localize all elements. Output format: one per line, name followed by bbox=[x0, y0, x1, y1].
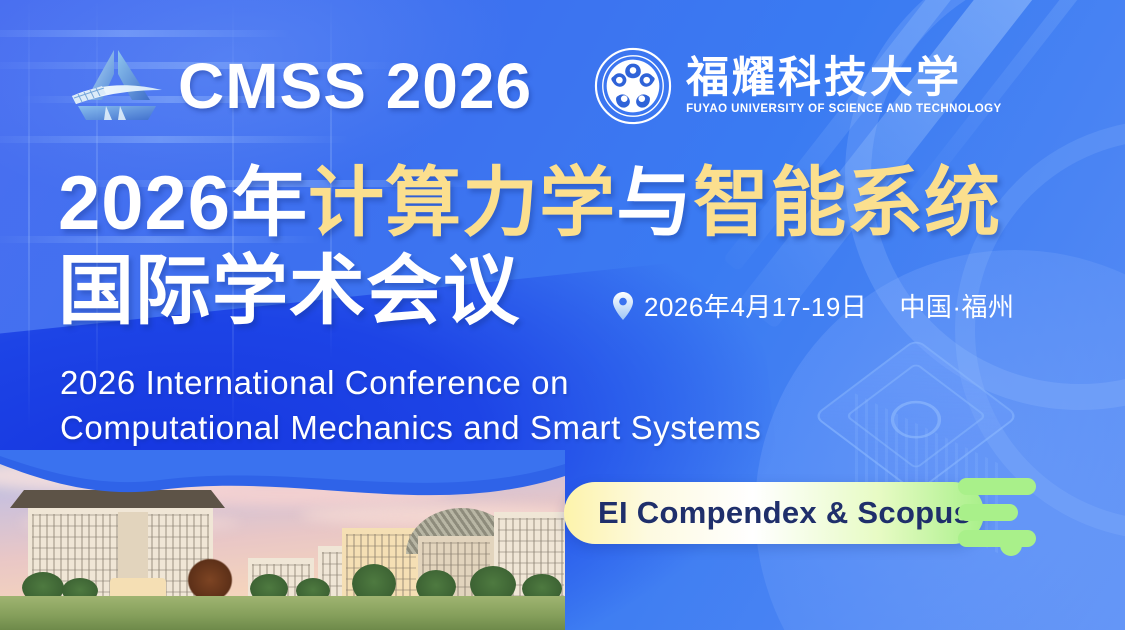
indexing-badge[interactable]: EI Compendex & Scopus bbox=[564, 482, 984, 544]
title-seg-smart-systems: 智能系统 bbox=[693, 161, 1001, 246]
university-names: 福耀科技大学 FUYAO UNIVERSITY OF SCIENCE AND T… bbox=[686, 57, 1002, 115]
university-name-en: FUYAO UNIVERSITY OF SCIENCE AND TECHNOLO… bbox=[686, 103, 1002, 115]
date-location-row: 2026年4月17-19日 中国·福州 bbox=[612, 287, 1014, 324]
bg-hline-4 bbox=[0, 136, 350, 143]
location-pin-icon bbox=[612, 292, 634, 320]
title-seg-comp-mech: 计算力学 bbox=[308, 161, 616, 246]
campus-lawn bbox=[0, 596, 565, 630]
bg-hline-1 bbox=[0, 30, 290, 37]
conference-location: 中国·福州 bbox=[899, 287, 1014, 324]
university-name-cn: 福耀科技大学 bbox=[686, 57, 1002, 100]
fuyao-university-seal-icon bbox=[594, 47, 672, 125]
green-bar-top bbox=[958, 478, 1036, 495]
university-logo-block: 福耀科技大学 FUYAO UNIVERSITY OF SCIENCE AND T… bbox=[594, 47, 1002, 125]
cmss-acronym-title: CMSS 2026 bbox=[178, 54, 532, 118]
main-hall-roof bbox=[10, 490, 225, 508]
title-seg-intl-conf: 国际学术会议 bbox=[58, 249, 520, 334]
conference-date: 2026年4月17-19日 bbox=[644, 287, 867, 324]
title-seg-and: 与 bbox=[616, 161, 693, 246]
green-bars-dot-decoration-icon bbox=[958, 478, 1038, 548]
campus-photo bbox=[0, 450, 565, 630]
english-subtitle-line-2: Computational Mechanics and Smart System… bbox=[60, 405, 761, 450]
green-dot-decoration-icon bbox=[1000, 534, 1022, 556]
campus-photo-content bbox=[0, 450, 565, 630]
main-title-line-1: 2026年计算力学与智能系统 bbox=[58, 160, 1001, 248]
green-bar-bottom bbox=[958, 530, 1036, 547]
banner-header: CMSS 2026 bbox=[0, 42, 1125, 130]
green-bar-mid bbox=[958, 504, 1018, 521]
english-subtitle-line-1: 2026 International Conference on bbox=[60, 360, 761, 405]
cmss-pyramid-bridge-logo bbox=[62, 42, 170, 130]
conference-banner: CMSS 2026 bbox=[0, 0, 1125, 630]
title-seg-year: 2026年 bbox=[58, 161, 308, 246]
indexing-badge-label: EI Compendex & Scopus bbox=[598, 495, 971, 531]
english-subtitle: 2026 International Conference on Computa… bbox=[60, 360, 761, 450]
